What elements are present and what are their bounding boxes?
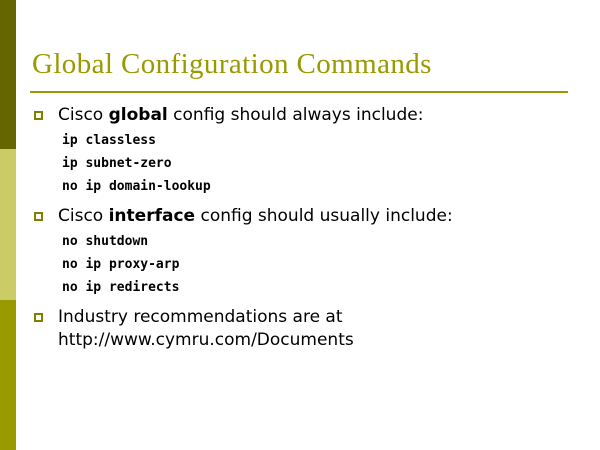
group-spacer bbox=[0, 198, 600, 205]
square-outline-bullet-icon bbox=[34, 111, 43, 120]
bullet-text: Industry recommendations are at http://w… bbox=[58, 306, 600, 352]
command-line-item: no ip domain-lookup bbox=[0, 175, 600, 198]
bullet-text-segment: config should usually include: bbox=[195, 206, 453, 226]
bullet-text: Cisco global config should always includ… bbox=[58, 104, 600, 127]
command-line-item: ip subnet-zero bbox=[0, 152, 600, 175]
command-line-item: no ip proxy-arp bbox=[0, 253, 600, 276]
bullet-text-emphasis: interface bbox=[109, 206, 195, 226]
bullet-text-segment: Industry recommendations are at http://w… bbox=[58, 307, 354, 350]
bullet-text-segment: config should always include: bbox=[168, 105, 424, 125]
command-line-item: ip classless bbox=[0, 129, 600, 152]
bullet-text-segment: Cisco bbox=[58, 105, 109, 125]
square-outline-bullet-icon bbox=[34, 313, 43, 322]
slide-title: Global Configuration Commands bbox=[32, 48, 432, 81]
command-line-item: no shutdown bbox=[0, 230, 600, 253]
bullet-text: Cisco interface config should usually in… bbox=[58, 205, 600, 228]
square-outline-bullet-icon bbox=[34, 212, 43, 221]
bullet-item: Cisco interface config should usually in… bbox=[0, 205, 600, 228]
bullet-text-segment: Cisco bbox=[58, 206, 109, 226]
bullet-text-emphasis: global bbox=[109, 105, 168, 125]
group-spacer bbox=[0, 299, 600, 306]
title-underline-rule bbox=[30, 91, 568, 93]
bullet-item: Cisco global config should always includ… bbox=[0, 104, 600, 127]
command-line-item: no ip redirects bbox=[0, 276, 600, 299]
bullet-item: Industry recommendations are at http://w… bbox=[0, 306, 600, 352]
slide-body: Cisco global config should always includ… bbox=[0, 104, 600, 354]
